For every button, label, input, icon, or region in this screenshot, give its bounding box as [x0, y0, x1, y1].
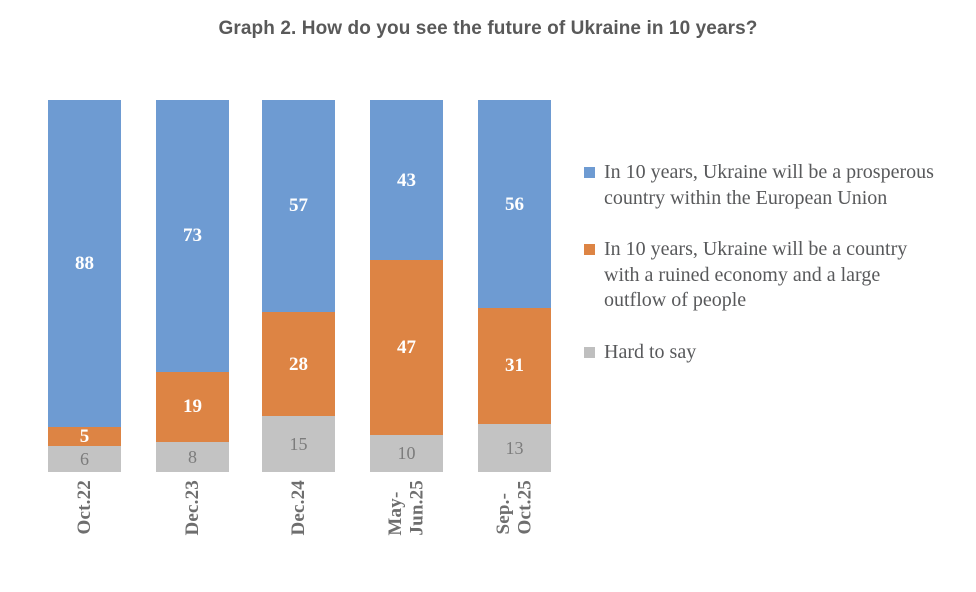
category-label-line2: Jun.25	[407, 480, 428, 536]
chart-container: Graph 2. How do you see the future of Uk…	[0, 0, 976, 592]
category-label-text: Dec.24	[288, 480, 309, 536]
legend-item-label: In 10 years, Ukraine will be a prosperou…	[604, 160, 944, 211]
bar-segment-orange[interactable]: 5	[48, 427, 121, 446]
category-label-oct22: Oct.22	[48, 480, 121, 585]
bar-segment-gray[interactable]: 10	[370, 435, 443, 472]
bar-value-label: 13	[506, 439, 524, 457]
bar-value-label: 28	[289, 355, 308, 374]
bar-value-label: 88	[75, 254, 94, 273]
bar-value-label: 5	[80, 427, 90, 446]
bar-value-label: 8	[188, 448, 197, 466]
chart-legend: In 10 years, Ukraine will be a prosperou…	[584, 160, 964, 392]
bar-segment-gray[interactable]: 6	[48, 446, 121, 472]
bar-value-label: 43	[397, 171, 416, 190]
category-label-line1: May-	[385, 492, 406, 536]
legend-item-ruined-economy[interactable]: In 10 years, Ukraine will be a country w…	[584, 237, 964, 314]
category-label-sepoct25: Sep.-Oct.25	[478, 480, 551, 585]
bar-value-label: 31	[505, 356, 524, 375]
legend-swatch-blue-icon	[584, 167, 595, 178]
bar-value-label: 15	[290, 435, 308, 453]
category-label-mayjun25: May-Jun.25	[370, 480, 443, 585]
bar-value-label: 73	[183, 226, 202, 245]
bar-segment-gray[interactable]: 13	[478, 424, 551, 472]
bar-segment-blue[interactable]: 57	[262, 100, 335, 312]
category-label-text: Dec.23	[182, 480, 203, 536]
category-label-line1: Sep.-	[493, 493, 514, 535]
bar-stack: 73 19 8	[156, 100, 229, 472]
bar-segment-orange[interactable]: 28	[262, 312, 335, 416]
bar-segment-orange[interactable]: 31	[478, 308, 551, 423]
category-label-dec23: Dec.23	[156, 480, 229, 585]
bar-value-label: 10	[398, 444, 416, 462]
category-label-dec24: Dec.24	[262, 480, 335, 585]
bar-stack: 57 28 15	[262, 100, 335, 472]
bar-segment-gray[interactable]: 8	[156, 442, 229, 472]
legend-item-label: In 10 years, Ukraine will be a country w…	[604, 237, 944, 314]
category-label-text: Sep.-Oct.25	[493, 480, 536, 535]
bar-stack: 88 5 6	[48, 100, 121, 472]
bar-segment-orange[interactable]: 47	[370, 260, 443, 435]
legend-swatch-orange-icon	[584, 244, 595, 255]
bar-value-label: 6	[80, 450, 89, 468]
bar-value-label: 57	[289, 196, 308, 215]
bar-value-label: 47	[397, 338, 416, 357]
legend-item-prosperous-eu[interactable]: In 10 years, Ukraine will be a prosperou…	[584, 160, 964, 211]
bar-stack: 43 47 10	[370, 100, 443, 472]
legend-item-hard-to-say[interactable]: Hard to say	[584, 340, 964, 366]
bar-segment-blue[interactable]: 88	[48, 100, 121, 427]
category-label-line2: Oct.25	[515, 480, 536, 535]
category-label-text: Oct.22	[74, 480, 95, 535]
bar-segment-orange[interactable]: 19	[156, 372, 229, 443]
bar-value-label: 19	[183, 397, 202, 416]
bar-segment-blue[interactable]: 56	[478, 100, 551, 308]
bar-segment-blue[interactable]: 43	[370, 100, 443, 260]
legend-item-label: Hard to say	[604, 340, 696, 366]
bar-value-label: 56	[505, 195, 524, 214]
legend-swatch-gray-icon	[584, 347, 595, 358]
bar-segment-blue[interactable]: 73	[156, 100, 229, 372]
bar-stack: 56 31 13	[478, 100, 551, 472]
bar-segment-gray[interactable]: 15	[262, 416, 335, 472]
category-label-text: May-Jun.25	[385, 480, 428, 536]
